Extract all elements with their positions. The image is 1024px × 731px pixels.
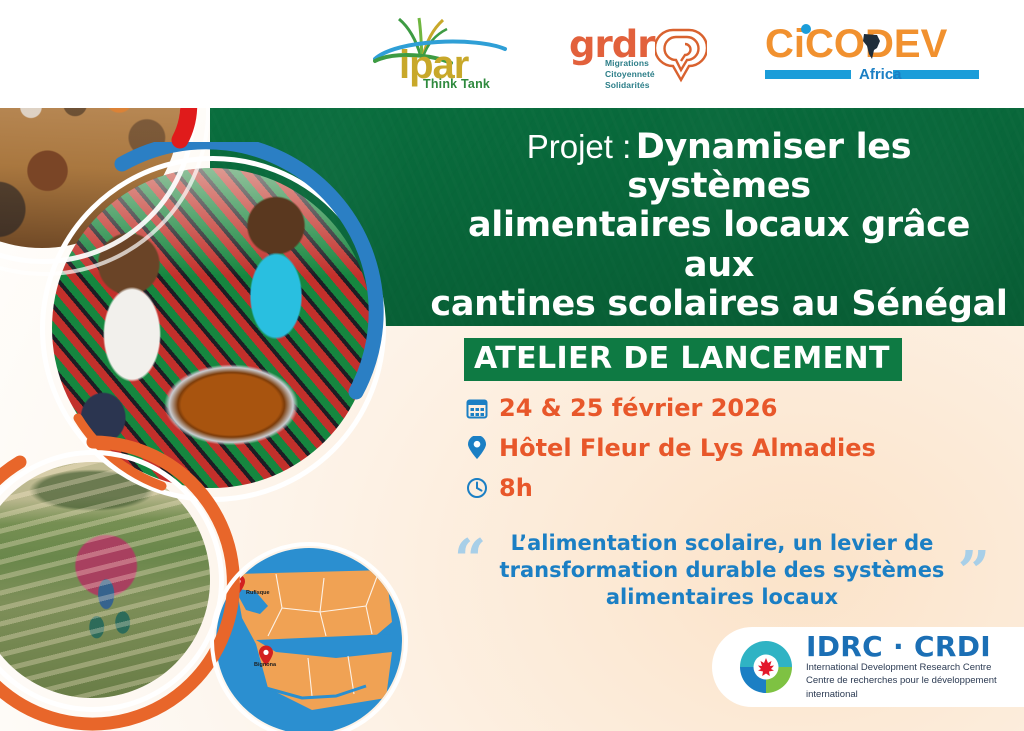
event-time-text: 8h <box>499 474 533 502</box>
ipar-logo: ipar Think Tank <box>373 15 513 93</box>
cicodev-i-dot <box>801 24 811 34</box>
clock-icon <box>466 476 488 500</box>
africa-silhouette-icon <box>859 32 885 62</box>
funder-line-fr: Centre de recherches pour le développeme… <box>806 674 1024 701</box>
quote-close-mark: ” <box>958 544 990 600</box>
partner-logos: ipar Think Tank grdr Migrations Citoyenn… <box>330 0 1024 108</box>
funder-text-block: IDRC · CRDI International Development Re… <box>806 633 1024 701</box>
poster-canvas: Projet : Dynamiser les systèmes alimenta… <box>0 0 1024 731</box>
quote-line-3: alimentaires locaux <box>496 584 948 611</box>
quote-line-1: L’alimentation scolaire, un levier de <box>496 530 948 557</box>
workshop-badge: ATELIER DE LANCEMENT <box>464 338 902 381</box>
quote-text: L’alimentation scolaire, un levier de tr… <box>496 530 948 611</box>
cicodev-region: Africa <box>859 66 902 83</box>
quote-open-mark: “ <box>454 532 486 588</box>
event-date-row: 24 & 25 février 2026 <box>466 388 876 428</box>
quote-block: “ ” L’alimentation scolaire, un levier d… <box>448 530 996 611</box>
event-time-row: 8h <box>466 468 876 508</box>
funder-acronym: IDRC · CRDI <box>806 633 1024 661</box>
grdr-tagline: Migrations Citoyenneté Solidarités <box>605 58 655 91</box>
event-details-list: 24 & 25 février 2026 Hôtel Fleur de Lys … <box>466 388 876 508</box>
calendar-icon <box>466 396 488 420</box>
hero-line-3: cantines scolaires au Sénégal <box>430 285 1008 324</box>
decorative-ring-map-white <box>210 542 408 731</box>
event-date-text: 24 & 25 février 2026 <box>499 394 777 422</box>
hero-line-2: alimentaires locaux grâce aux <box>430 206 1008 284</box>
cicodev-wordmark: CiCODEV <box>765 24 947 64</box>
hero-line-1: Dynamiser les systèmes <box>627 127 911 206</box>
location-pin-icon <box>466 436 488 460</box>
partner-logo-band: ipar Think Tank grdr Migrations Citoyenn… <box>0 0 1024 108</box>
grdr-tagline-line-3: Solidarités <box>605 80 655 91</box>
grdr-tagline-line-2: Citoyenneté <box>605 69 655 80</box>
funder-line-en: International Development Research Centr… <box>806 661 1024 674</box>
idrc-emblem-icon <box>738 639 794 695</box>
orange-ring-accent-large <box>0 432 244 731</box>
cicodev-bar-left <box>765 70 851 79</box>
funder-logo-idrc: IDRC · CRDI International Development Re… <box>712 627 1024 707</box>
grdr-fingerprint-icon <box>655 24 707 86</box>
grdr-logo: grdr Migrations Citoyenneté Solidarités <box>563 18 713 90</box>
cicodev-bar-right <box>893 70 979 79</box>
hero-lead: Projet : <box>527 128 632 165</box>
page-title: Projet : Dynamiser les systèmes alimenta… <box>430 128 1008 324</box>
event-venue-text: Hôtel Fleur de Lys Almadies <box>499 434 876 462</box>
grdr-tagline-line-1: Migrations <box>605 58 655 69</box>
event-venue-row: Hôtel Fleur de Lys Almadies <box>466 428 876 468</box>
quote-line-2: transformation durable des systèmes <box>496 557 948 584</box>
cicodev-logo: CiCODEV Africa <box>763 18 981 90</box>
ipar-tagline: Think Tank <box>423 77 490 91</box>
